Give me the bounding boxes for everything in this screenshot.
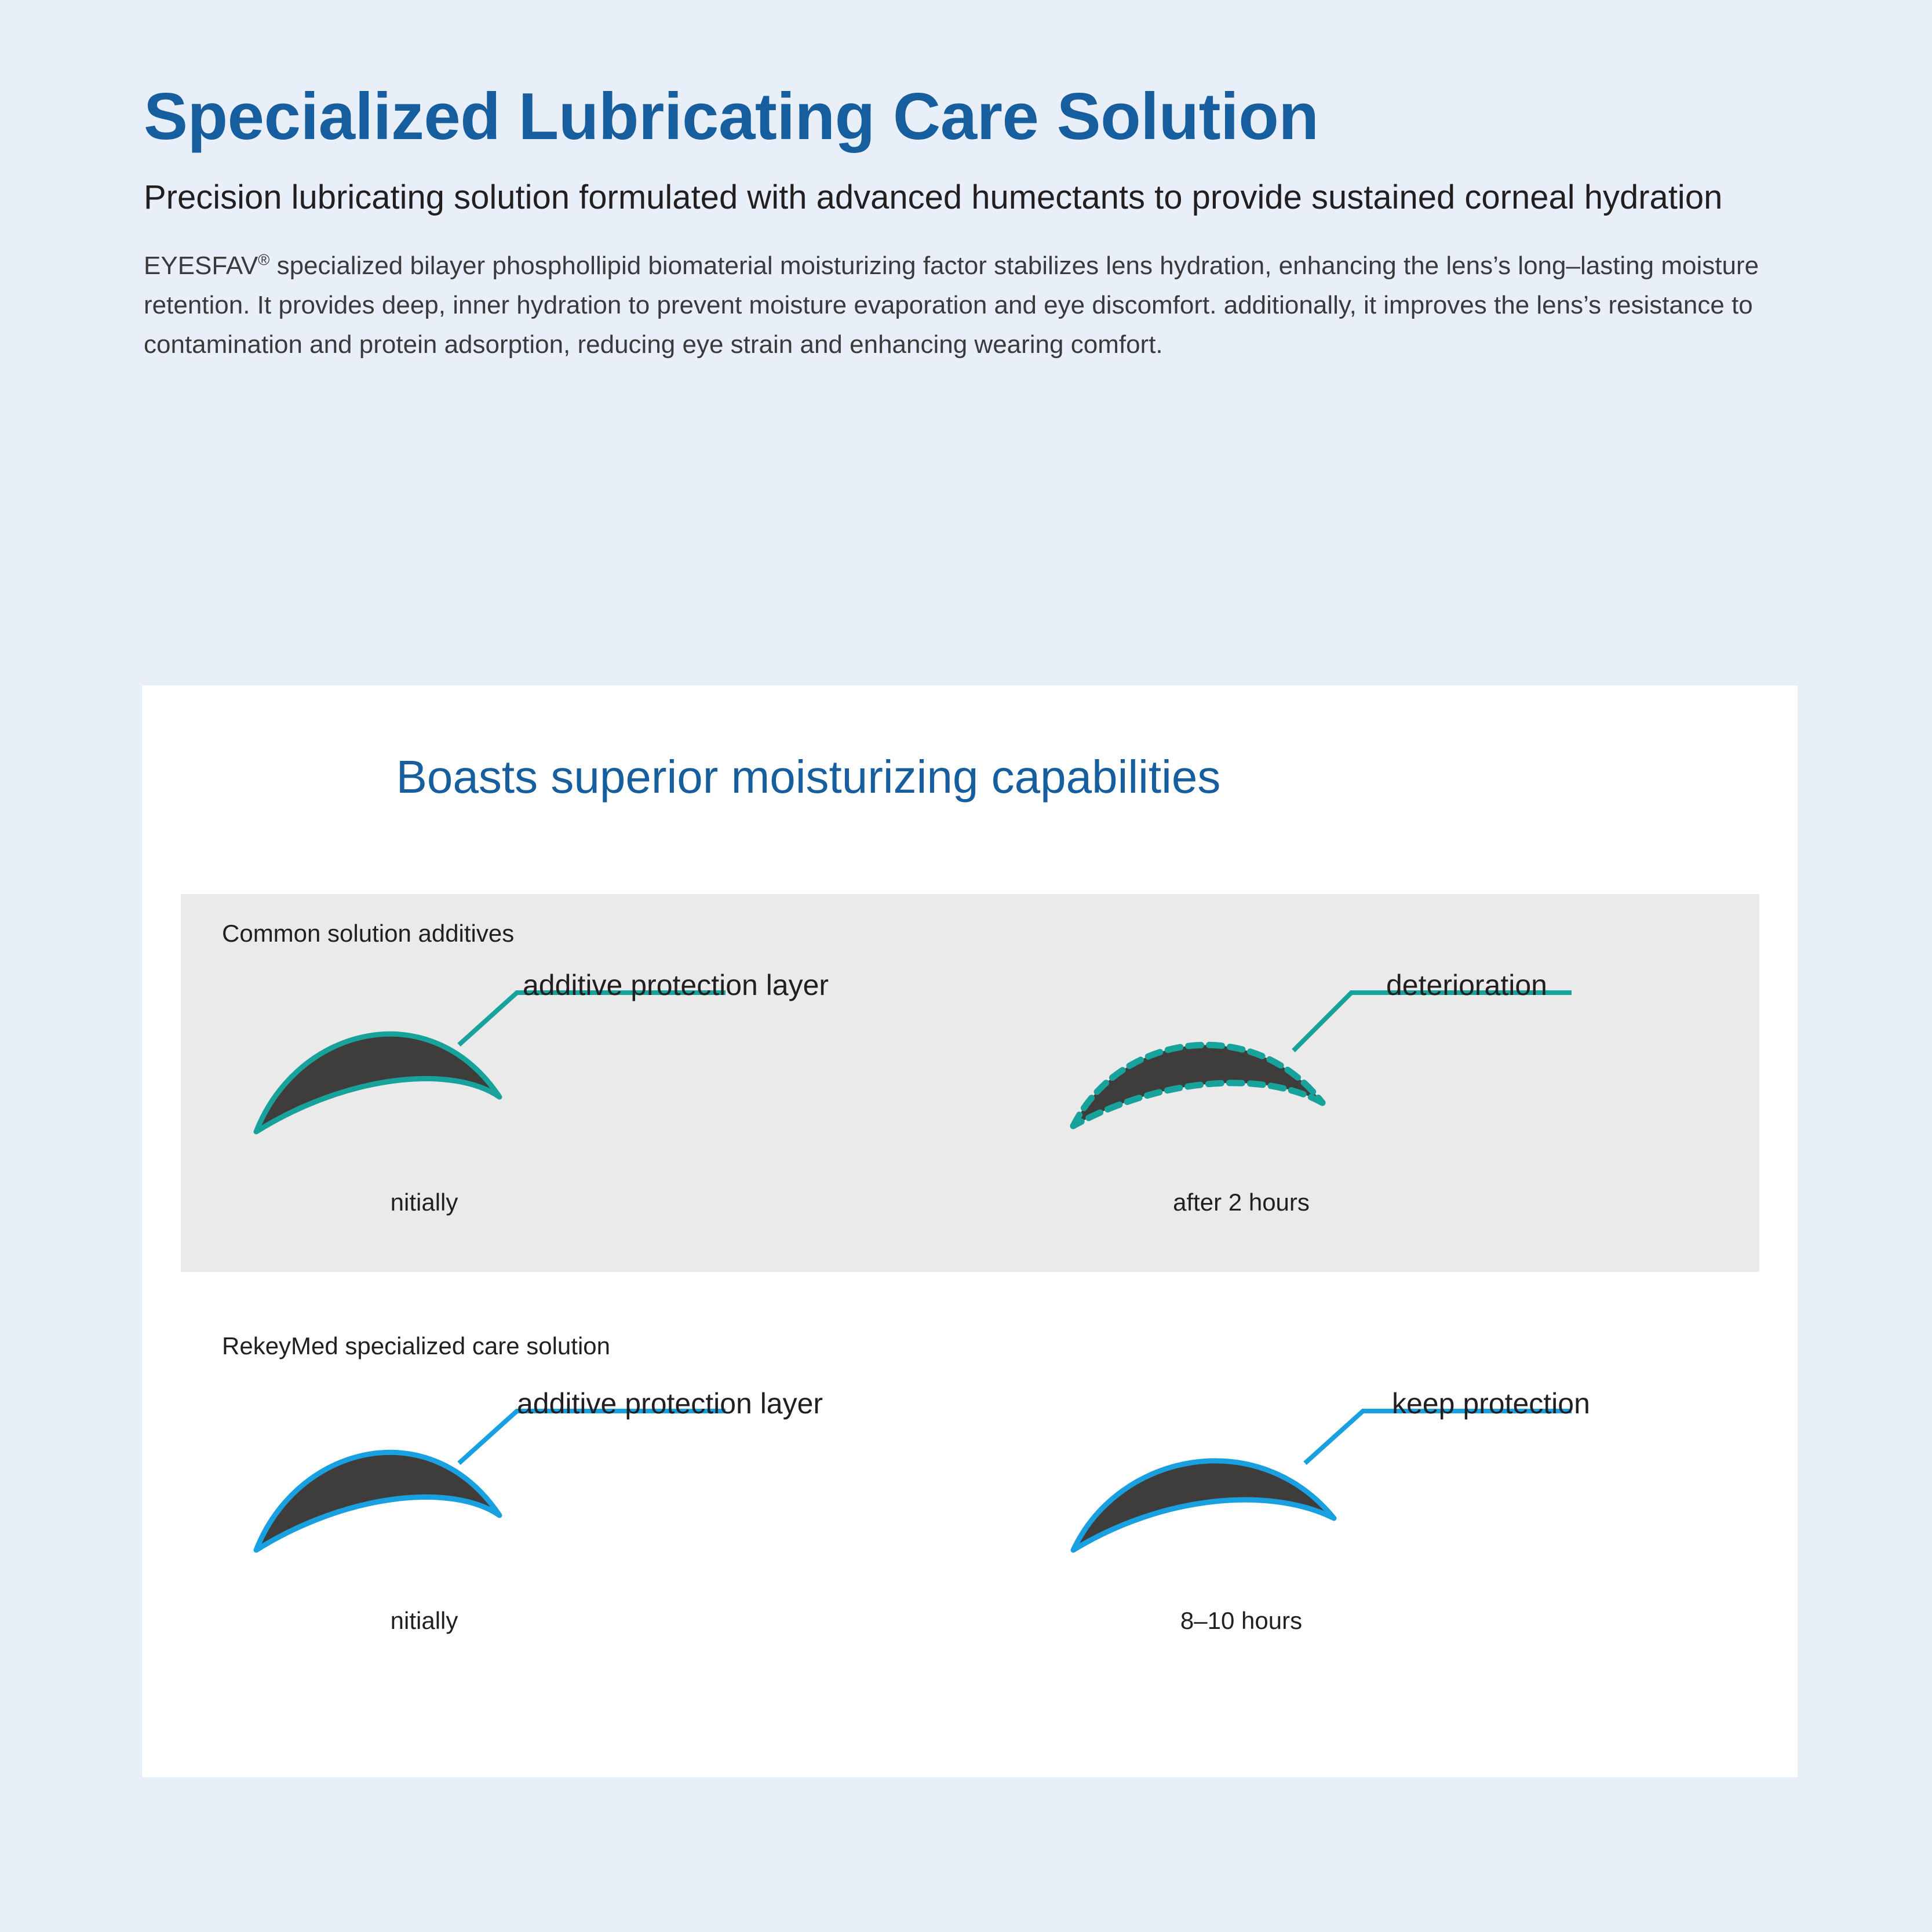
panel-label-rekeymed: RekeyMed specialized care solution — [222, 1332, 610, 1360]
panel-label-common: Common solution additives — [222, 920, 514, 947]
callout-additive-protection-layer: additive protection layer — [523, 968, 829, 1002]
poster-page: Specialized Lubricating Care Solution Pr… — [0, 0, 1932, 1932]
callout-additive-protection-layer: additive protection layer — [517, 1387, 823, 1420]
figure-rekeymed-initially: additive protection layer nitially — [245, 1376, 940, 1701]
figure-caption-initially: nitially — [245, 1189, 604, 1216]
page-title: Specialized Lubricating Care Solution — [144, 81, 1801, 152]
figure-caption-8-10-hours: 8–10 hours — [1062, 1607, 1421, 1635]
registered-trademark-icon: ® — [258, 250, 269, 268]
figure-rekeymed-8-10-hours: keep protection 8–10 hours — [1062, 1376, 1757, 1701]
hero-section: Specialized Lubricating Care Solution Pr… — [144, 81, 1801, 364]
comparison-card: Boasts superior moisturizing capabilitie… — [142, 686, 1798, 1777]
page-description: EYESFAV® specialized bilayer phosphollip… — [144, 246, 1784, 365]
page-subtitle: Precision lubricating solution formulate… — [144, 176, 1789, 219]
description-text: specialized bilayer phosphollipid biomat… — [144, 251, 1759, 359]
callout-deterioration: deterioration — [1386, 968, 1547, 1002]
card-title: Boasts superior moisturizing capabilitie… — [142, 750, 1475, 804]
figure-caption-after-2-hours: after 2 hours — [1062, 1189, 1421, 1216]
callout-keep-protection: keep protection — [1392, 1387, 1590, 1420]
figure-common-initially: additive protection layer nitially — [245, 958, 940, 1282]
brand-name: EYESFAV — [144, 251, 258, 280]
figure-caption-initially: nitially — [245, 1607, 604, 1635]
panel-common-additives: Common solution additives additive prote… — [181, 894, 1759, 1272]
figure-common-after-2-hours: deterioration after 2 hours — [1062, 958, 1757, 1282]
panel-rekeymed-solution: RekeyMed specialized care solution addit… — [181, 1307, 1759, 1724]
